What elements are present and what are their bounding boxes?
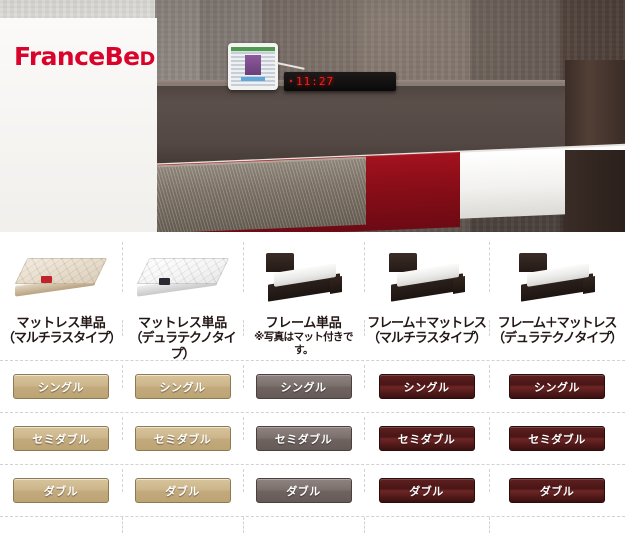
column-divider: [489, 417, 490, 440]
product-label-line1: フレーム＋マットレス: [491, 316, 623, 331]
clock-indicator-dot: [290, 80, 292, 82]
button-cell: セミダブル: [0, 413, 122, 464]
cell-double-1: ダブル: [122, 465, 243, 516]
cell-semidouble-0: セミダブル: [0, 413, 122, 464]
cell-semidouble-3: セミダブル: [364, 413, 489, 464]
button-cell: シングル: [122, 361, 243, 412]
cell-double-0: ダブル: [0, 465, 122, 516]
clock-time-display: 11:27: [296, 76, 334, 87]
product-label: マットレス単品 （マルチラスタイプ）: [0, 316, 122, 360]
quilt-pattern: [136, 258, 229, 284]
select-double-frame-mattress-multilas-button[interactable]: ダブル: [379, 478, 475, 503]
select-semidouble-mattress-duratechno-button[interactable]: セミダブル: [135, 426, 231, 451]
select-single-mattress-duratechno-button[interactable]: シングル: [135, 374, 231, 399]
product-label-line1: フレーム単品: [245, 316, 362, 331]
column-divider: [243, 517, 244, 533]
mattress-label-tag: [159, 278, 170, 285]
tablet-screen-header: [231, 47, 275, 51]
label-col-4: フレーム＋マットレス （デュラテクノタイプ）: [489, 316, 625, 360]
mattress-beige-quilted-icon: [15, 254, 107, 300]
button-cell: セミダブル: [243, 413, 364, 464]
mattress-label-tag: [41, 276, 52, 283]
product-label-line2: （マルチラスタイプ）: [2, 331, 120, 346]
select-single-mattress-multilas-button[interactable]: シングル: [13, 374, 109, 399]
select-double-frame-only-button[interactable]: ダブル: [256, 478, 352, 503]
button-cell: シングル: [364, 361, 489, 412]
mattress-white-quilted-icon: [137, 254, 229, 300]
select-double-mattress-multilas-button[interactable]: ダブル: [13, 478, 109, 503]
cell-single-1: シングル: [122, 361, 243, 412]
label-col-2: フレーム単品 ※写真はマット付きです。: [243, 316, 364, 360]
pad-1: [122, 517, 243, 537]
button-cell: セミダブル: [122, 413, 243, 464]
thumbnail-cell: [364, 238, 489, 316]
label-col-1: マットレス単品 （デュラテクノタイプ）: [122, 316, 243, 360]
select-single-frame-mattress-duratechno-button[interactable]: シングル: [509, 374, 605, 399]
tablet-screen-button: [241, 77, 265, 81]
column-divider: [122, 469, 123, 492]
product-label-line1: マットレス単品: [2, 316, 120, 331]
column-divider: [489, 320, 490, 336]
cell-semidouble-1: セミダブル: [122, 413, 243, 464]
select-semidouble-frame-mattress-multilas-button[interactable]: セミダブル: [379, 426, 475, 451]
cell-double-3: ダブル: [364, 465, 489, 516]
column-divider: [243, 469, 244, 492]
product-label: マットレス単品 （デュラテクノタイプ）: [122, 316, 243, 360]
product-label: フレーム＋マットレス （デュラテクノタイプ）: [489, 316, 625, 360]
tablet-screen: [231, 47, 275, 86]
logo-panel: FranceBeD: [0, 18, 157, 238]
cell-single-4: シングル: [489, 361, 625, 412]
bed-right-post: [565, 150, 625, 238]
button-cell: ダブル: [489, 465, 625, 516]
column-frame-only: [243, 238, 364, 316]
cell-semidouble-4: セミダブル: [489, 413, 625, 464]
page-root: 11:27 FranceBeD: [0, 0, 625, 537]
thumbnail-cell: [0, 238, 122, 316]
column-divider: [364, 469, 365, 492]
tablet-screen-thumbnail: [245, 55, 261, 75]
frame-headboard: [389, 253, 417, 272]
thumbnail-row: [0, 238, 625, 316]
button-cell: セミダブル: [489, 413, 625, 464]
label-col-0: マットレス単品 （マルチラスタイプ）: [0, 316, 122, 360]
column-divider: [243, 242, 244, 292]
cell-double-2: ダブル: [243, 465, 364, 516]
size-row-single: シングル シングル シングル シングル: [0, 361, 625, 412]
column-divider: [364, 417, 365, 440]
cell-double-4: ダブル: [489, 465, 625, 516]
select-single-frame-only-button[interactable]: シングル: [256, 374, 352, 399]
column-divider: [122, 320, 123, 336]
column-divider: [122, 242, 123, 292]
product-label-line1: マットレス単品: [124, 316, 241, 331]
size-row-semi-double: セミダブル セミダブル セミダブル セミダブル: [0, 413, 625, 464]
select-semidouble-frame-mattress-duratechno-button[interactable]: セミダブル: [509, 426, 605, 451]
product-label-line2: （デュラテクノタイプ）: [491, 331, 623, 346]
select-double-frame-mattress-duratechno-button[interactable]: ダブル: [509, 478, 605, 503]
column-frame-plus-mattress-multilas: [364, 238, 489, 316]
frame-footboard: [453, 276, 465, 294]
cell-single-3: シングル: [364, 361, 489, 412]
column-divider: [243, 417, 244, 440]
thumbnail-cell: [243, 238, 364, 316]
pad-2: [243, 517, 364, 537]
pad-0: [0, 517, 122, 537]
button-cell: シングル: [0, 361, 122, 412]
bed-frame-icon: [256, 251, 352, 303]
button-cell: セミダブル: [364, 413, 489, 464]
button-cell: ダブル: [243, 465, 364, 516]
hero-banner: 11:27 FranceBeD: [0, 0, 625, 238]
column-frame-plus-mattress-duratechno: [489, 238, 625, 316]
frame-footboard: [330, 276, 342, 294]
thumbnail-cell: [122, 238, 243, 316]
column-divider: [364, 242, 365, 292]
frame-headboard: [519, 253, 547, 272]
cell-single-0: シングル: [0, 361, 122, 412]
button-cell: ダブル: [0, 465, 122, 516]
button-cell: シングル: [489, 361, 625, 412]
column-divider: [364, 365, 365, 388]
brand-logo: FranceBeD: [14, 44, 155, 69]
column-divider: [122, 517, 123, 533]
cell-semidouble-2: セミダブル: [243, 413, 364, 464]
column-divider: [122, 417, 123, 440]
frame-headboard: [266, 253, 294, 272]
column-divider: [364, 320, 365, 336]
grid-bottom-padding: [0, 517, 625, 537]
label-col-3: フレーム＋マットレス （マルチラスタイプ）: [364, 316, 489, 360]
select-double-mattress-duratechno-button[interactable]: ダブル: [135, 478, 231, 503]
bed-frame-with-mattress-icon: [509, 251, 605, 303]
cell-single-2: シングル: [243, 361, 364, 412]
bed-frame-with-mattress-icon: [379, 251, 475, 303]
column-divider: [489, 242, 490, 292]
column-divider: [489, 469, 490, 492]
column-mattress-duratechno: [122, 238, 243, 316]
product-label: フレーム＋マットレス （マルチラスタイプ）: [364, 316, 489, 360]
column-divider: [243, 365, 244, 388]
column-divider: [489, 365, 490, 388]
select-single-frame-mattress-multilas-button[interactable]: シングル: [379, 374, 475, 399]
column-divider: [122, 365, 123, 388]
select-semidouble-frame-only-button[interactable]: セミダブル: [256, 426, 352, 451]
column-divider: [243, 320, 244, 336]
digital-clock: 11:27: [284, 72, 396, 91]
product-selector-grid: マットレス単品 （マルチラスタイプ） マットレス単品 （デュラテクノタイプ） フ…: [0, 238, 625, 537]
column-divider: [489, 517, 490, 533]
frame-footboard: [583, 276, 595, 294]
product-label: フレーム単品 ※写真はマット付きです。: [243, 316, 364, 360]
product-label-line2: （マルチラスタイプ）: [366, 331, 487, 346]
mattress-top: [136, 258, 229, 284]
pad-4: [489, 517, 625, 537]
product-label-line1: フレーム＋マットレス: [366, 316, 487, 331]
size-row-double: ダブル ダブル ダブル ダブル: [0, 465, 625, 516]
quilt-pattern: [15, 258, 108, 284]
select-semidouble-mattress-multilas-button[interactable]: セミダブル: [13, 426, 109, 451]
tablet-device: [228, 43, 278, 90]
button-cell: ダブル: [122, 465, 243, 516]
button-cell: ダブル: [364, 465, 489, 516]
thumbnail-cell: [489, 238, 625, 316]
product-label-note: ※写真はマット付きです。: [245, 331, 362, 356]
button-cell: シングル: [243, 361, 364, 412]
product-label-line2: （デュラテクノタイプ）: [124, 331, 241, 362]
column-divider: [364, 517, 365, 533]
mattress-top: [15, 258, 108, 284]
column-mattress-multilas: [0, 238, 122, 316]
label-row: マットレス単品 （マルチラスタイプ） マットレス単品 （デュラテクノタイプ） フ…: [0, 316, 625, 360]
pad-3: [364, 517, 489, 537]
